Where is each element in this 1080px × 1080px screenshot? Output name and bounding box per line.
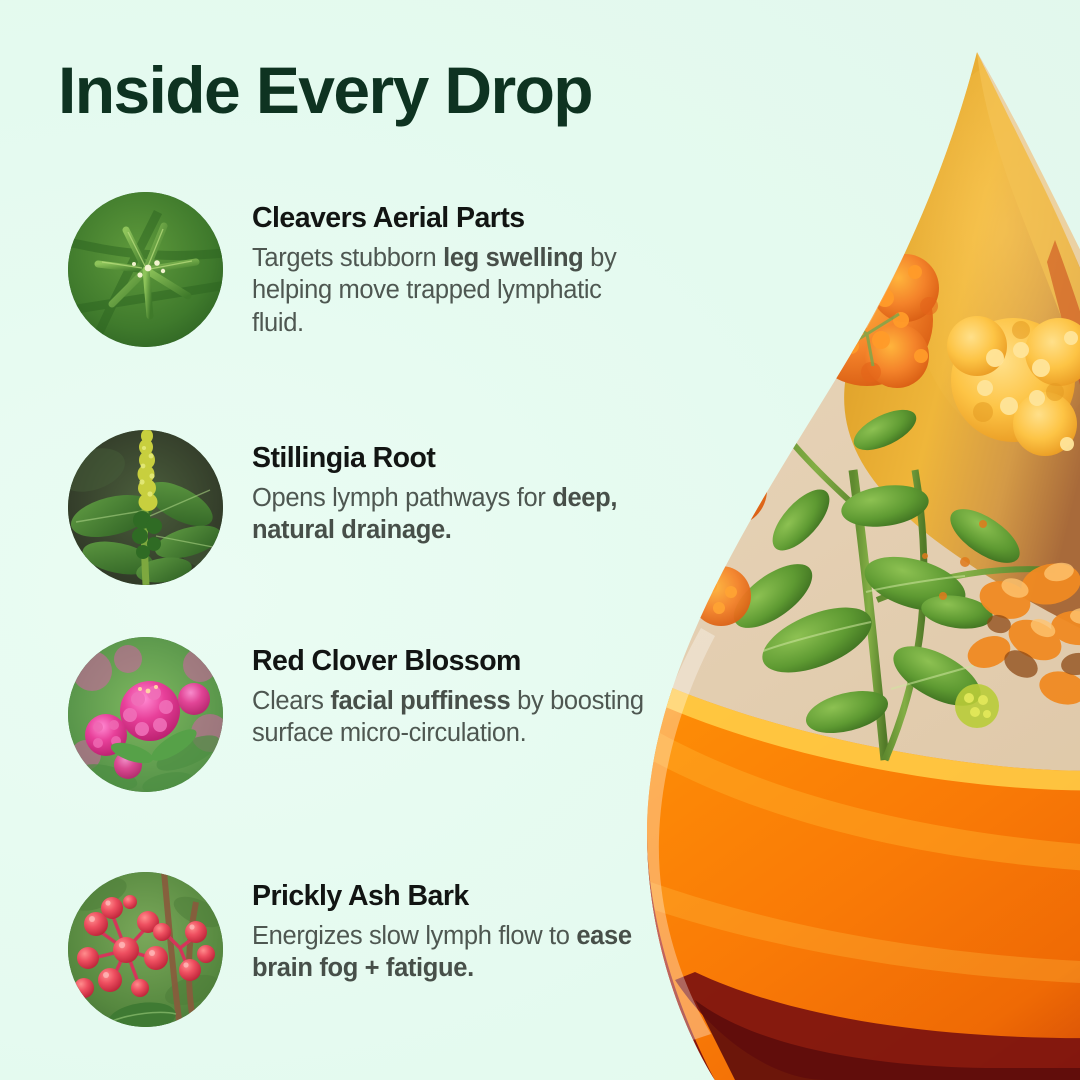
herbal-oil-droplet-image bbox=[585, 0, 1080, 1080]
red-clover-plant-photo bbox=[68, 637, 223, 792]
ingredient-name: Cleavers Aerial Parts bbox=[252, 202, 644, 235]
ingredient-description: Targets stubborn leg swelling by helping… bbox=[252, 242, 644, 339]
cleavers-plant-photo bbox=[68, 192, 223, 347]
ingredient-description: Opens lymph pathways for deep, natural d… bbox=[252, 482, 644, 547]
prickly-ash-plant-photo bbox=[68, 872, 223, 1027]
page-title: Inside Every Drop bbox=[58, 57, 592, 123]
ingredient-description: Energizes slow lymph flow to ease brain … bbox=[252, 920, 644, 985]
ingredient-description: Clears facial puffiness by boosting surf… bbox=[252, 685, 644, 750]
ingredient-name: Red Clover Blossom bbox=[252, 645, 644, 678]
ingredient-name: Stillingia Root bbox=[252, 442, 644, 475]
infographic-canvas: Inside Every Drop bbox=[0, 0, 1080, 1080]
ingredient-name: Prickly Ash Bark bbox=[252, 880, 644, 913]
stillingia-plant-photo bbox=[68, 430, 223, 585]
